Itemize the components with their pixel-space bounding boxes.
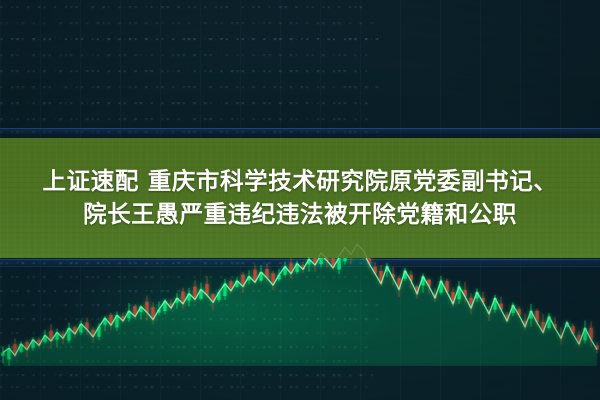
background-data-row: 0.96 15.4 -0.25 841 3.42 0.60 27.9 -1.73… bbox=[0, 70, 600, 75]
background-data-row: 2 344 0.41 -0.19 58.6 7.23 0.38 1 590 -0… bbox=[0, 86, 600, 91]
background-data-row: 0.74 22.6 -0.37 612 5.18 0.94 18.3 -0.88… bbox=[0, 118, 600, 123]
news-thumbnail-card: 0.12 8.41 1 354 -0.07 2.93 +1.08 0.55 3 … bbox=[0, 0, 600, 400]
headline-line-2: 院长王愚严重违纪违法被开除党籍和公职 bbox=[83, 202, 517, 227]
headline-line-1: 上证速配 重庆市科学技术研究院原党委副书记、 bbox=[43, 169, 558, 194]
background-data-row: 6.18 -1.04 975 1.39 0.22 36.5 2 801 0.67… bbox=[0, 102, 600, 107]
headline-text-block: 上证速配 重庆市科学技术研究院原党委副书记、 院长王愚严重违纪违法被开除党籍和公… bbox=[0, 138, 600, 258]
background-data-row: 1 907 0.33 -1.45 72.8 6.01 0.27 2 480 -0… bbox=[0, 38, 600, 43]
background-data-row: 0.12 8.41 1 354 -0.07 2.93 +1.08 0.55 3 … bbox=[0, 6, 600, 11]
background-data-row: 43.70 1.2 -0.88 2 015 0.46 6.37 19.2 -0.… bbox=[0, 374, 600, 379]
background-separator-line bbox=[0, 128, 600, 129]
background-data-row: 8.05 -0.62 330 2.71 0.18 47.3 1 266 0.84… bbox=[0, 54, 600, 59]
headline-banner: 上证速配 重庆市科学技术研究院原党委副书记、 院长王愚严重违纪违法被开除党籍和公… bbox=[0, 138, 600, 258]
background-data-row: 43.70 1.2 -0.88 2 015 0.46 6.37 19.2 -0.… bbox=[0, 22, 600, 27]
background-data-row: 0.96 15.4 -0.25 841 3.42 0.60 27.9 -1.73… bbox=[0, 386, 600, 391]
